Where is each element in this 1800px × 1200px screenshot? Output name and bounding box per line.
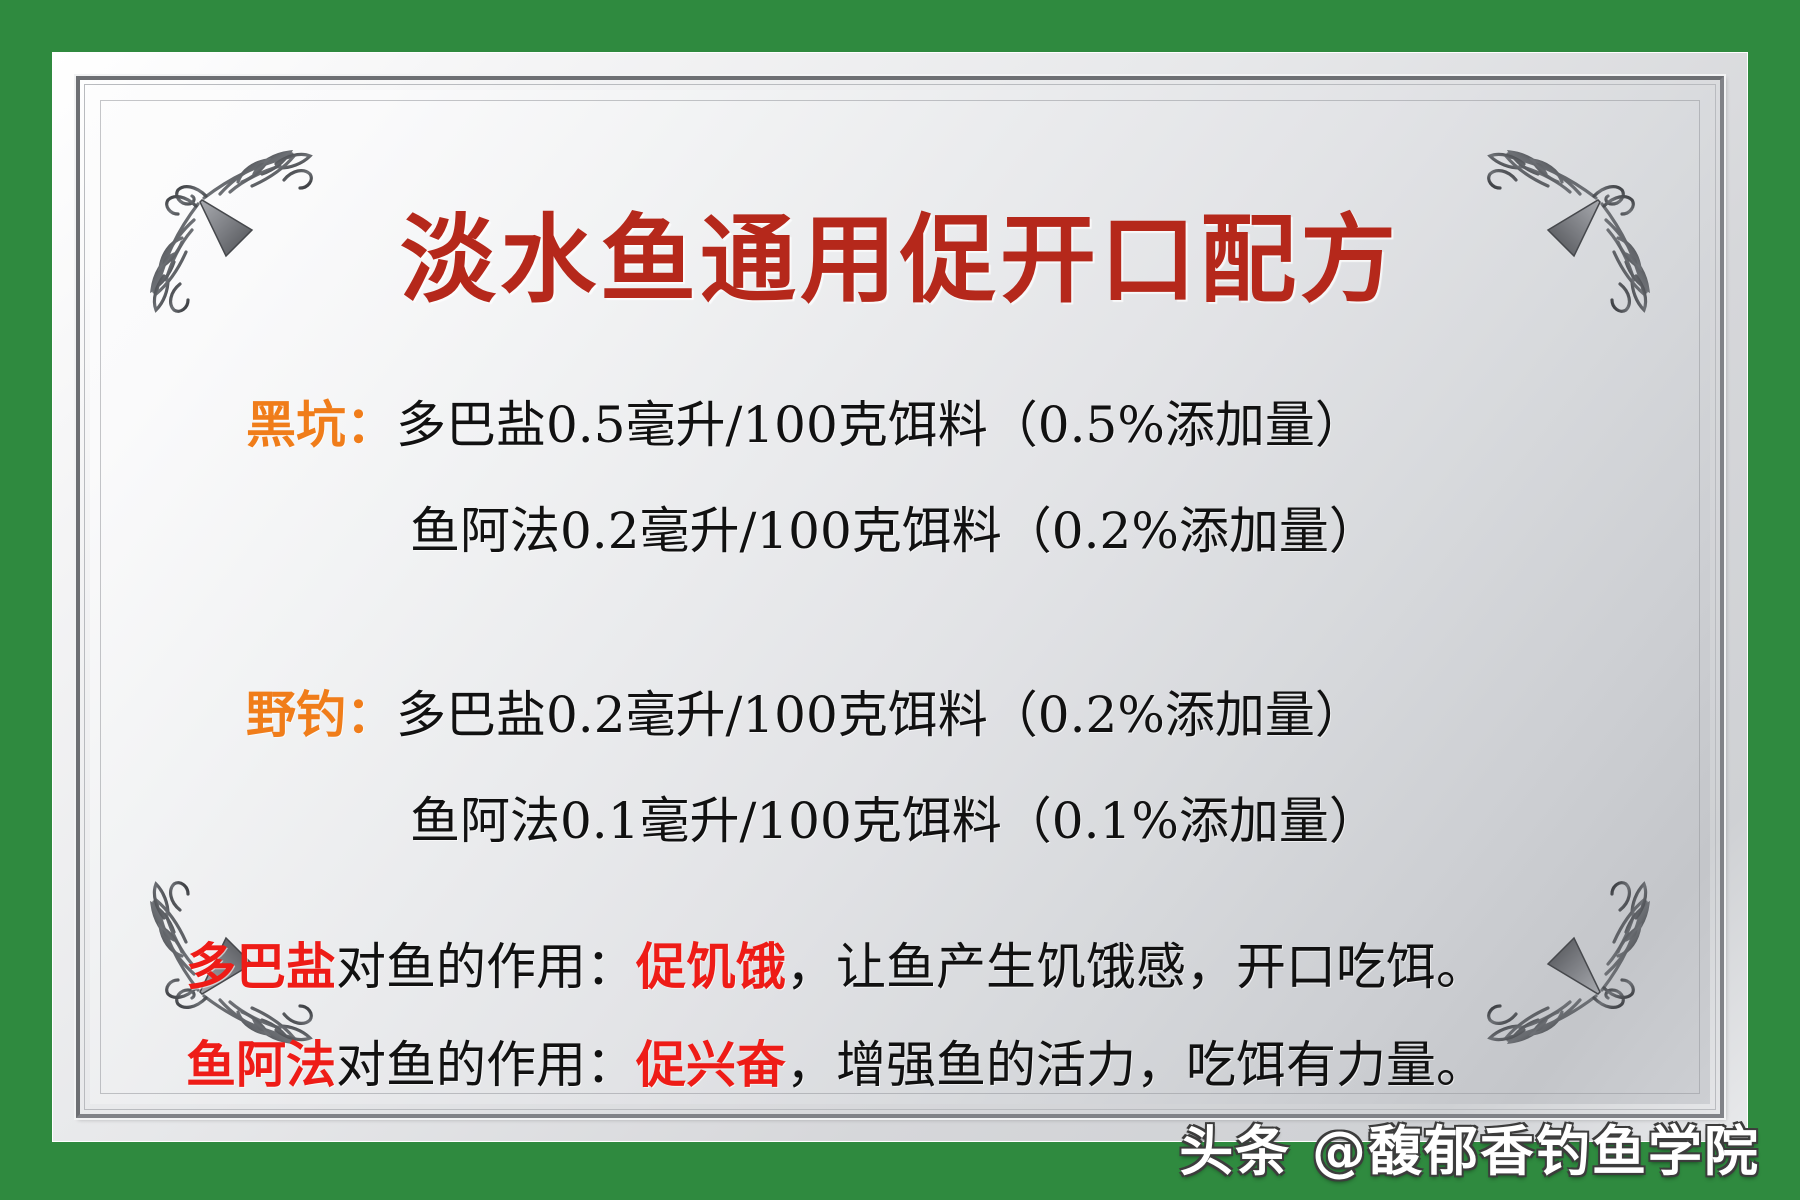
poster-canvas: 淡水鱼通用促开口配方 黑坑：多巴盐0.5毫升/100克饵料（0.5%添加量） 鱼… [0,0,1800,1200]
effect-row-yuafa: 鱼阿法对鱼的作用：促兴奋，增强鱼的活力，吃饵有力量。 [186,1040,1620,1090]
recipe-text-heikeng-2: 鱼阿法0.2毫升/100克饵料（0.2%添加量） [410,502,1379,560]
effect-mid-duobayan: 对鱼的作用： [336,938,636,996]
recipe-row-heikeng-line2: 鱼阿法0.2毫升/100克饵料（0.2%添加量） [410,506,1620,556]
effect-mid-yuafa: 对鱼的作用： [336,1036,636,1094]
recipe-label-heikeng: 黑坑： [246,395,396,454]
recipe-text-yediao-1: 多巴盐0.2毫升/100克饵料（0.2%添加量） [396,686,1365,744]
effect-highlight-duobayan: 促饥饿 [636,937,786,996]
recipe-list: 黑坑：多巴盐0.5毫升/100克饵料（0.5%添加量） 鱼阿法0.2毫升/100… [198,400,1620,1090]
recipe-row-yediao-line2: 鱼阿法0.1毫升/100克饵料（0.1%添加量） [410,796,1620,846]
plaque-panel: 淡水鱼通用促开口配方 黑坑：多巴盐0.5毫升/100克饵料（0.5%添加量） 鱼… [90,90,1710,1104]
effect-name-yuafa: 鱼阿法 [186,1035,336,1094]
effect-row-duobayan: 多巴盐对鱼的作用：促饥饿，让鱼产生饥饿感，开口吃饵。 [186,942,1620,992]
effect-highlight-yuafa: 促兴奋 [636,1035,786,1094]
recipe-text-heikeng-1: 多巴盐0.5毫升/100克饵料（0.5%添加量） [396,396,1365,454]
effect-tail-yuafa: ，增强鱼的活力，吃饵有力量。 [786,1036,1486,1094]
recipe-row-heikeng-line1: 黑坑：多巴盐0.5毫升/100克饵料（0.5%添加量） [246,400,1620,450]
effect-tail-duobayan: ，让鱼产生饥饿感，开口吃饵。 [786,938,1486,996]
recipe-row-yediao-line1: 野钓：多巴盐0.2毫升/100克饵料（0.2%添加量） [246,690,1620,740]
watermark: 头条 @馥郁香钓鱼学院 [1179,1107,1760,1186]
picture-frame: 淡水鱼通用促开口配方 黑坑：多巴盐0.5毫升/100克饵料（0.5%添加量） 鱼… [52,52,1748,1142]
effect-name-duobayan: 多巴盐 [186,937,336,996]
page-title: 淡水鱼通用促开口配方 [90,210,1710,311]
recipe-label-yediao: 野钓： [246,685,396,744]
poster-content: 淡水鱼通用促开口配方 黑坑：多巴盐0.5毫升/100克饵料（0.5%添加量） 鱼… [90,90,1710,1104]
recipe-text-yediao-2: 鱼阿法0.1毫升/100克饵料（0.1%添加量） [410,792,1379,850]
